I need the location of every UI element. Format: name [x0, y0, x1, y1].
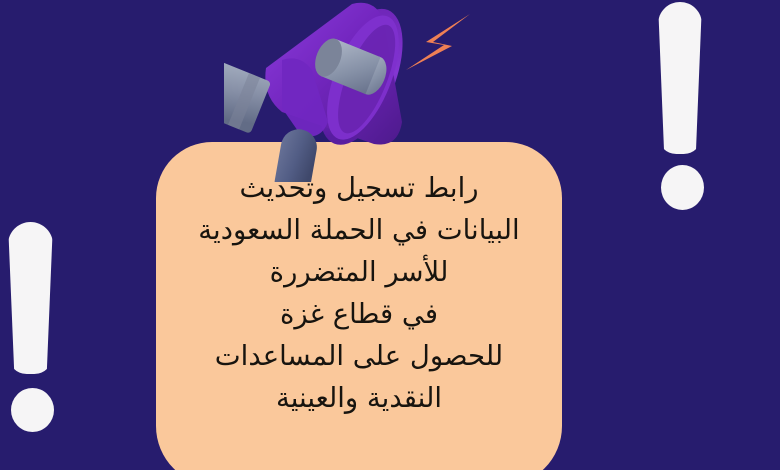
exclamation-mark-icon-left	[8, 222, 64, 434]
exclamation-dot	[11, 388, 54, 432]
lightning-bolt-icon	[400, 12, 472, 74]
headline-line-1: رابط تسجيل وتحديث	[156, 167, 562, 209]
headline-text: رابط تسجيل وتحديث البيانات في الحملة الس…	[156, 167, 562, 419]
headline-line-5: للحصول على المساعدات	[156, 335, 562, 377]
headline-line-2: البيانات في الحملة السعودية	[156, 209, 562, 251]
exclamation-stem	[8, 222, 53, 374]
exclamation-mark-icon-right	[658, 2, 714, 212]
headline-line-3: للأسر المتضررة	[156, 251, 562, 293]
headline-line-6: النقدية والعينية	[156, 377, 562, 419]
exclamation-stem	[658, 2, 702, 154]
headline-line-4: في قطاع غزة	[156, 293, 562, 335]
poster-canvas: رابط تسجيل وتحديث البيانات في الحملة الس…	[0, 0, 780, 470]
exclamation-dot	[661, 165, 704, 210]
